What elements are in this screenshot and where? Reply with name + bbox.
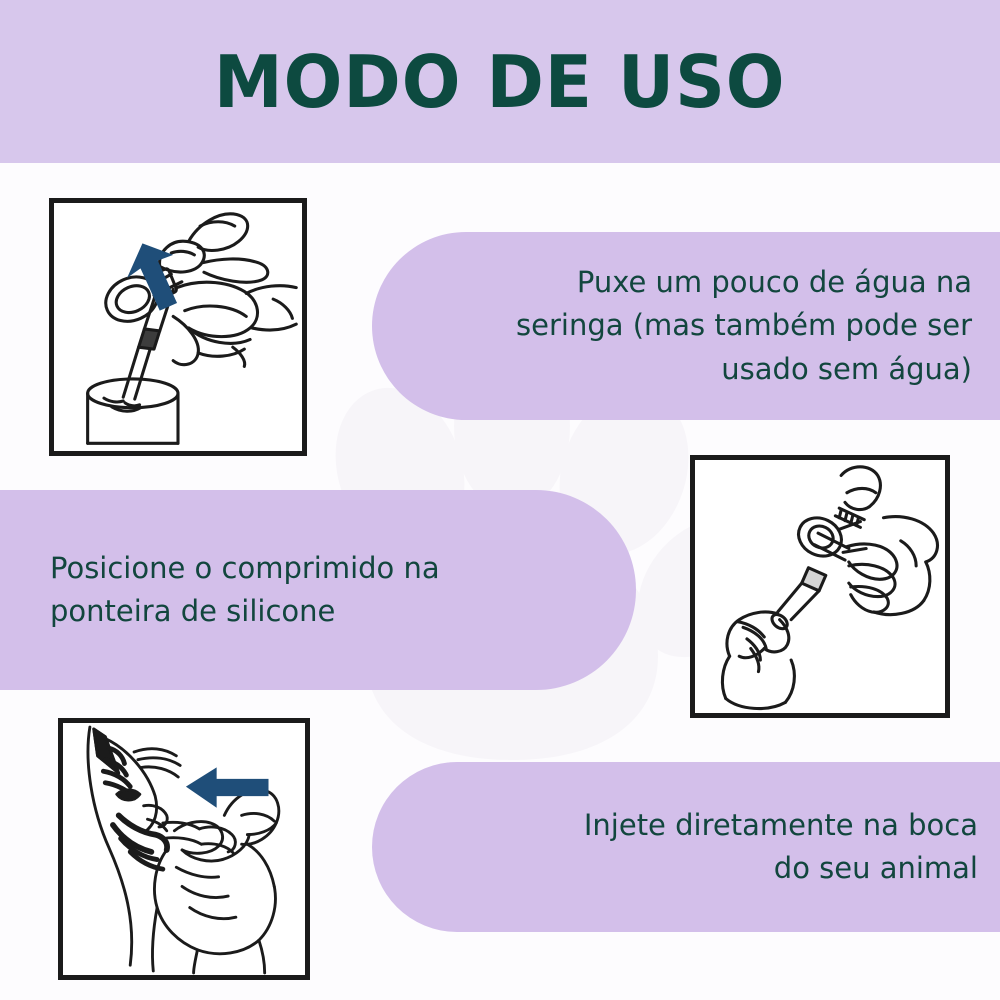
step-3-text: Injete diretamente na boca do seu animal xyxy=(584,804,978,891)
step-2-text: Posicione o comprimido na ponteira de si… xyxy=(50,547,440,634)
step-1-illustration-panel xyxy=(49,198,307,456)
step-1-text-pill: Puxe um pouco de água na seringa (mas ta… xyxy=(372,232,1000,420)
page-title: MODO DE USO xyxy=(214,46,786,118)
two-hands-loading-tablet-into-silicone-tip-illustration xyxy=(695,460,945,713)
step-3-illustration-panel xyxy=(58,718,310,980)
step-1-text: Puxe um pouco de água na seringa (mas ta… xyxy=(516,261,972,392)
hand-drawing-water-into-pill-syringe-from-cup-illustration xyxy=(54,203,302,451)
hand-administering-syringe-into-cat-mouth-illustration xyxy=(63,723,305,975)
step-2-text-pill: Posicione o comprimido na ponteira de si… xyxy=(0,490,636,690)
header-band: MODO DE USO xyxy=(0,0,1000,163)
step-3-text-pill: Injete diretamente na boca do seu animal xyxy=(372,762,1000,932)
arrow-left-icon xyxy=(186,767,269,807)
step-2-illustration-panel xyxy=(690,455,950,718)
modo-de-uso-infographic: MODO DE USO Puxe um pouco de água na ser… xyxy=(0,0,1000,1000)
